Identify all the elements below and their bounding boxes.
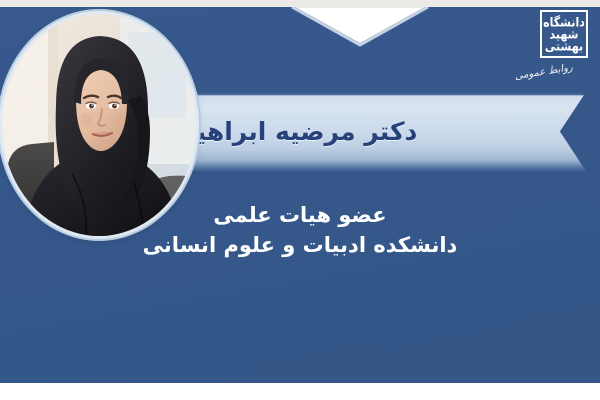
seal-line-3: بهشتی: [545, 40, 583, 53]
banner-card: دکتر مرضیه ابراهیمی: [0, 0, 600, 400]
public-relations-label: روابط عمومی: [514, 60, 587, 82]
subtitle-line-2: دانشکده ادبیات و علوم انسانی: [0, 230, 600, 260]
subtitle-block: عضو هیات علمی دانشکده ادبیات و علوم انسا…: [0, 200, 600, 261]
university-logo: دانشگاه شهید بهشتی روابط عمومی: [514, 10, 588, 94]
university-seal-icon: دانشگاه شهید بهشتی: [540, 10, 588, 58]
top-strip: [0, 0, 600, 8]
subtitle-line-1: عضو هیات علمی: [0, 200, 600, 230]
